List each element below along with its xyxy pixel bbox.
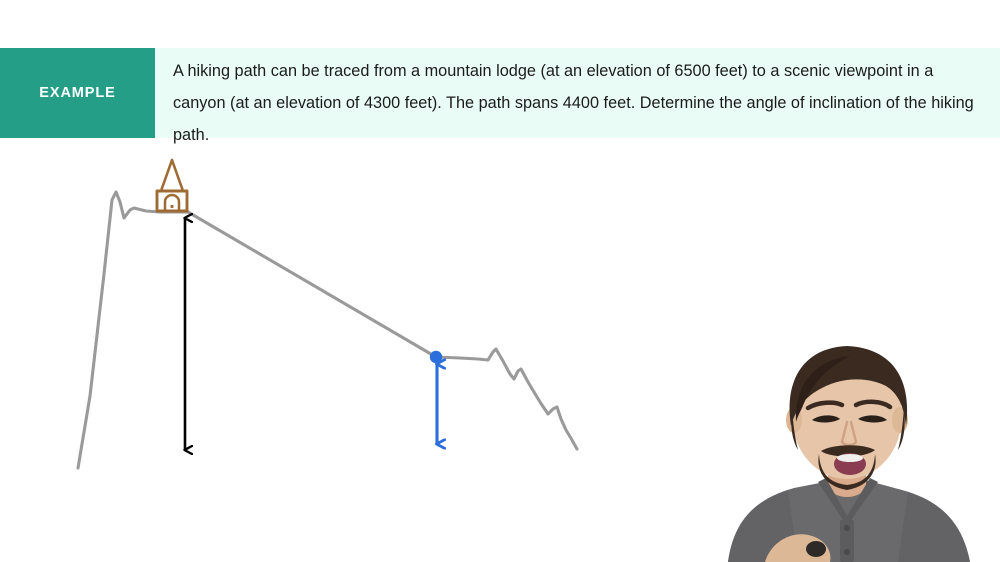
example-problem-text: A hiking path can be traced from a mount…	[155, 48, 1000, 138]
example-badge-label: EXAMPLE	[39, 85, 115, 101]
mountain-lodge-icon	[157, 160, 187, 211]
presenter-button-bottom	[844, 549, 850, 555]
terrain-left-ridge	[78, 192, 188, 468]
example-badge: EXAMPLE	[0, 48, 155, 138]
presenter-teeth	[837, 454, 863, 462]
example-banner: EXAMPLE A hiking path can be traced from…	[0, 48, 1000, 138]
instructor-portrait	[690, 330, 1000, 562]
viewpoint-marker-dot	[430, 351, 442, 363]
instructor-video-overlay	[690, 330, 1000, 562]
terrain-right-descent	[436, 349, 577, 449]
presenter-button-top	[844, 525, 850, 531]
hiking-path-line	[188, 212, 436, 357]
presenter-held-object	[806, 541, 826, 557]
